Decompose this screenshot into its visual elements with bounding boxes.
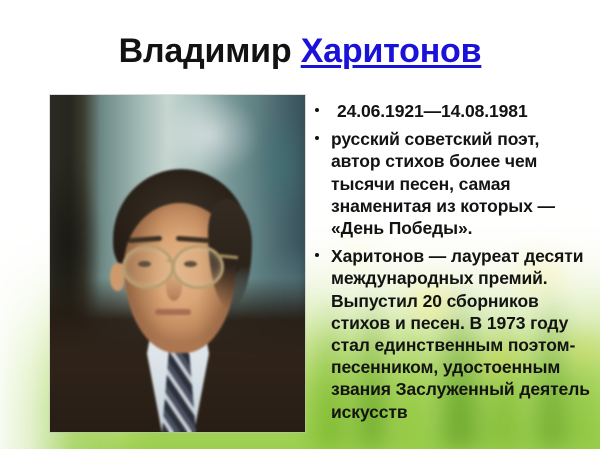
bullet-dot-icon xyxy=(315,108,319,112)
list-item: 24.06.1921—14.08.1981 xyxy=(310,100,592,122)
photo-softness-overlay xyxy=(50,95,305,432)
bullet-list: 24.06.1921—14.08.1981 русский советский … xyxy=(310,100,592,429)
title-first-name: Владимир xyxy=(119,32,292,70)
portrait-photo xyxy=(50,95,305,432)
list-item: Харитонов — лауреат десяти международных… xyxy=(310,245,592,423)
list-item-text: русский советский поэт, автор стихов бол… xyxy=(331,128,592,239)
bullet-dot-icon xyxy=(315,253,319,257)
list-item: русский советский поэт, автор стихов бол… xyxy=(310,128,592,239)
list-item-text: Харитонов — лауреат десяти международных… xyxy=(331,245,592,423)
slide-title: Владимир Харитонов xyxy=(0,30,600,72)
presentation-slide: Владимир Харитонов 24.06.1921—14.08. xyxy=(0,0,600,449)
list-item-text: 24.06.1921—14.08.1981 xyxy=(331,100,592,122)
title-last-name-link[interactable]: Харитонов xyxy=(301,32,482,70)
bullet-dot-icon xyxy=(315,136,319,140)
